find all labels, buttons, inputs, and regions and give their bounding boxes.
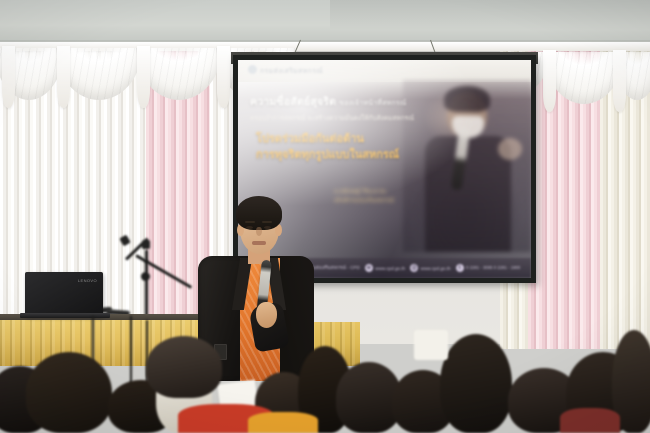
valance-tail — [613, 50, 626, 112]
slide-footer-phone: t 0 2281 - 3095 0 2281 - 1900 — [456, 264, 521, 272]
slide-footer-facebook-text: กรมส่งเสริมสหกรณ์ - CPD — [307, 265, 359, 272]
speaker-eye-right — [264, 226, 271, 229]
slide-speaker-name: นายพิเชษฐ์ วิริยะพาหะ — [334, 188, 444, 197]
speaker-nose — [256, 227, 262, 236]
slide-cta-line-2: การทุจริตทุกรูปแบบในสหกรณ์ — [256, 148, 436, 164]
logo-mark-icon — [248, 65, 257, 74]
speaker-mouth — [252, 241, 266, 245]
slide-footer-phone-text: 0 2281 - 3095 0 2281 - 1900 — [466, 265, 520, 270]
globe-icon: w — [365, 264, 373, 272]
slide-footer-mail-text: www.cpd.go.th — [421, 266, 451, 271]
valance-tail — [543, 50, 556, 112]
speaker-hand — [256, 302, 277, 328]
slide-speaker-title: อธิบดีกรมส่งเสริมสหกรณ์ — [334, 197, 444, 206]
speaker-brow-left — [245, 221, 255, 223]
slide-org-logo-text: กรมส่งเสริมสหกรณ์ — [260, 68, 323, 75]
slide-footer-mail: @ www.cpd.go.th — [410, 264, 450, 272]
speaker-eye-left — [246, 226, 253, 229]
presenter-laptop[interactable]: LENOVO — [25, 272, 103, 316]
conference-hall-photo: กรมส่งเสริมสหกรณ์ ความซื่อสัตย์สุจริต ขอ… — [0, 0, 650, 433]
slide-subheadline: ครอบงำการสหกรณ์ จะสร้างความมั่นคงให้กับส… — [250, 115, 440, 123]
speaker-hair — [236, 196, 282, 230]
valance-tail — [57, 46, 70, 108]
valance-tail — [2, 46, 15, 108]
audience-chair-back — [414, 330, 448, 360]
slide-call-to-action: โปรดร่วมมือกันต่อต้าน การทุจริตทุกรูปแบบ… — [256, 132, 436, 164]
slide-headline: ความซื่อสัตย์สุจริต ของเจ้าหน้าที่สหกรณ์ — [250, 96, 430, 108]
audience-head — [440, 334, 512, 433]
mic-stand-boom-arm — [135, 254, 192, 289]
valance-tail — [137, 46, 150, 108]
slide-headline-tail: ของเจ้าหน้าที่สหกรณ์ — [339, 100, 406, 107]
slide-org-logo: กรมส่งเสริมสหกรณ์ — [248, 65, 323, 77]
slide-footer-website-text: www.cpd.go.th — [375, 266, 405, 271]
laptop-brand-mark: LENOVO — [78, 278, 97, 283]
slide-footer-website: w www.cpd.go.th — [365, 264, 405, 272]
laptop-base — [20, 313, 110, 318]
audience-shoulder — [560, 408, 620, 433]
slide-photo-hand — [498, 138, 522, 160]
valance-tail — [217, 46, 230, 108]
slide-headline-main: ความซื่อสัตย์สุจริต — [250, 96, 336, 108]
slide-speaker-credit: นายพิเชษฐ์ วิริยะพาหะ อธิบดีกรมส่งเสริมส… — [334, 188, 444, 206]
audience-head — [146, 336, 222, 398]
slide-photo-hair — [444, 86, 490, 112]
audience-shoulder — [248, 412, 318, 433]
audience-head — [26, 352, 112, 433]
speaker-brow-right — [262, 221, 272, 223]
ceiling-beam — [330, 0, 650, 30]
mail-icon: @ — [410, 264, 418, 272]
slide-cta-line-1: โปรดร่วมมือกันต่อต้าน — [256, 132, 436, 148]
boom-mic-stand-right — [126, 238, 186, 324]
phone-icon: t — [456, 264, 464, 272]
